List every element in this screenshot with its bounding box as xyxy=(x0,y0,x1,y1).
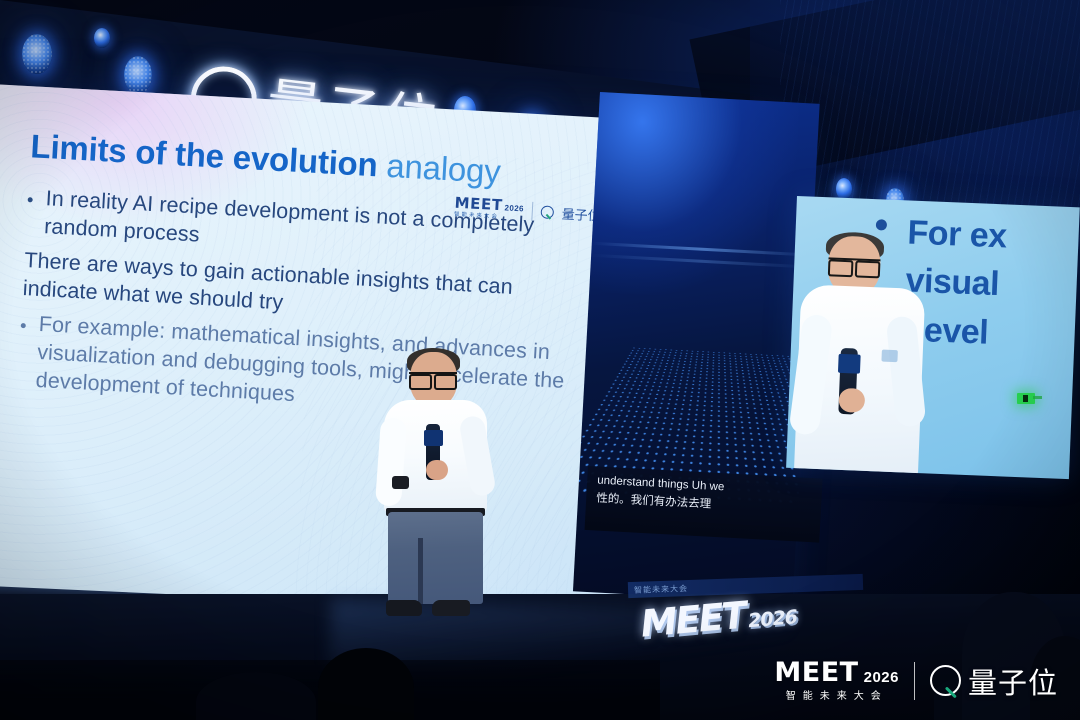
watermark-divider xyxy=(914,662,915,700)
feed-speaker-figure xyxy=(794,234,928,474)
led-glow xyxy=(573,92,801,303)
quantum-q-icon xyxy=(540,205,554,219)
speaker-shoe-left xyxy=(386,600,422,616)
presentation-clicker-icon xyxy=(392,476,409,489)
bullet-dot-icon xyxy=(21,323,26,328)
broadcast-watermark: MEET 2026 智能未来大会 量子位 xyxy=(774,659,1058,702)
bullet-dot-icon xyxy=(28,197,33,202)
stage-speaker xyxy=(372,352,500,620)
speaker-shoe-right xyxy=(432,600,470,616)
truss-light-icon xyxy=(94,28,110,48)
meet-wordmark: MEET xyxy=(454,196,503,214)
quantum-wordmark: 量子位 xyxy=(968,660,1058,702)
microphone-flag xyxy=(424,430,443,446)
truss-light-icon xyxy=(22,34,52,74)
sculpture-year: 2026 xyxy=(747,606,798,633)
truss-light-icon xyxy=(124,56,152,94)
conference-stage-photo: 量子位 Limits of the evolution analogy In r… xyxy=(0,0,1080,720)
speaker-jeans xyxy=(388,512,483,604)
camera-feed-panel: For ex visual devel xyxy=(786,196,1080,479)
microphone-flag xyxy=(838,354,861,374)
slide-title-light: analogy xyxy=(377,146,502,190)
meet-chinese-tagline: 智能未来大会 xyxy=(774,692,899,702)
quantum-q-icon xyxy=(930,665,961,696)
speaker-hand xyxy=(426,460,448,480)
quantum-logo: 量子位 xyxy=(930,660,1058,702)
live-caption-bar: understand things Uh we 性的。我们有办法去理 xyxy=(585,466,823,543)
meet-year: 2026 xyxy=(504,204,524,214)
meet-year: 2026 xyxy=(864,670,899,686)
eyeglasses-icon xyxy=(828,257,880,272)
feed-slide-bullet-dot-icon xyxy=(876,219,887,230)
sculpture-wordmark: MEET xyxy=(638,593,747,646)
meet-logo: MEET 2026 智能未来大会 xyxy=(454,196,525,222)
audience-silhouette xyxy=(318,648,414,720)
meet-logo: MEET 2026 智能未来大会 xyxy=(774,659,899,702)
feed-shirt-logo xyxy=(881,350,897,363)
speaker-leg-gap xyxy=(418,538,423,604)
meet-wordmark: MEET xyxy=(774,659,858,686)
exit-sign-glow xyxy=(1033,396,1042,399)
slide-title-bold: Limits of the evolution xyxy=(30,127,379,183)
eyeglasses-icon xyxy=(409,372,457,384)
lockup-divider xyxy=(531,202,533,221)
